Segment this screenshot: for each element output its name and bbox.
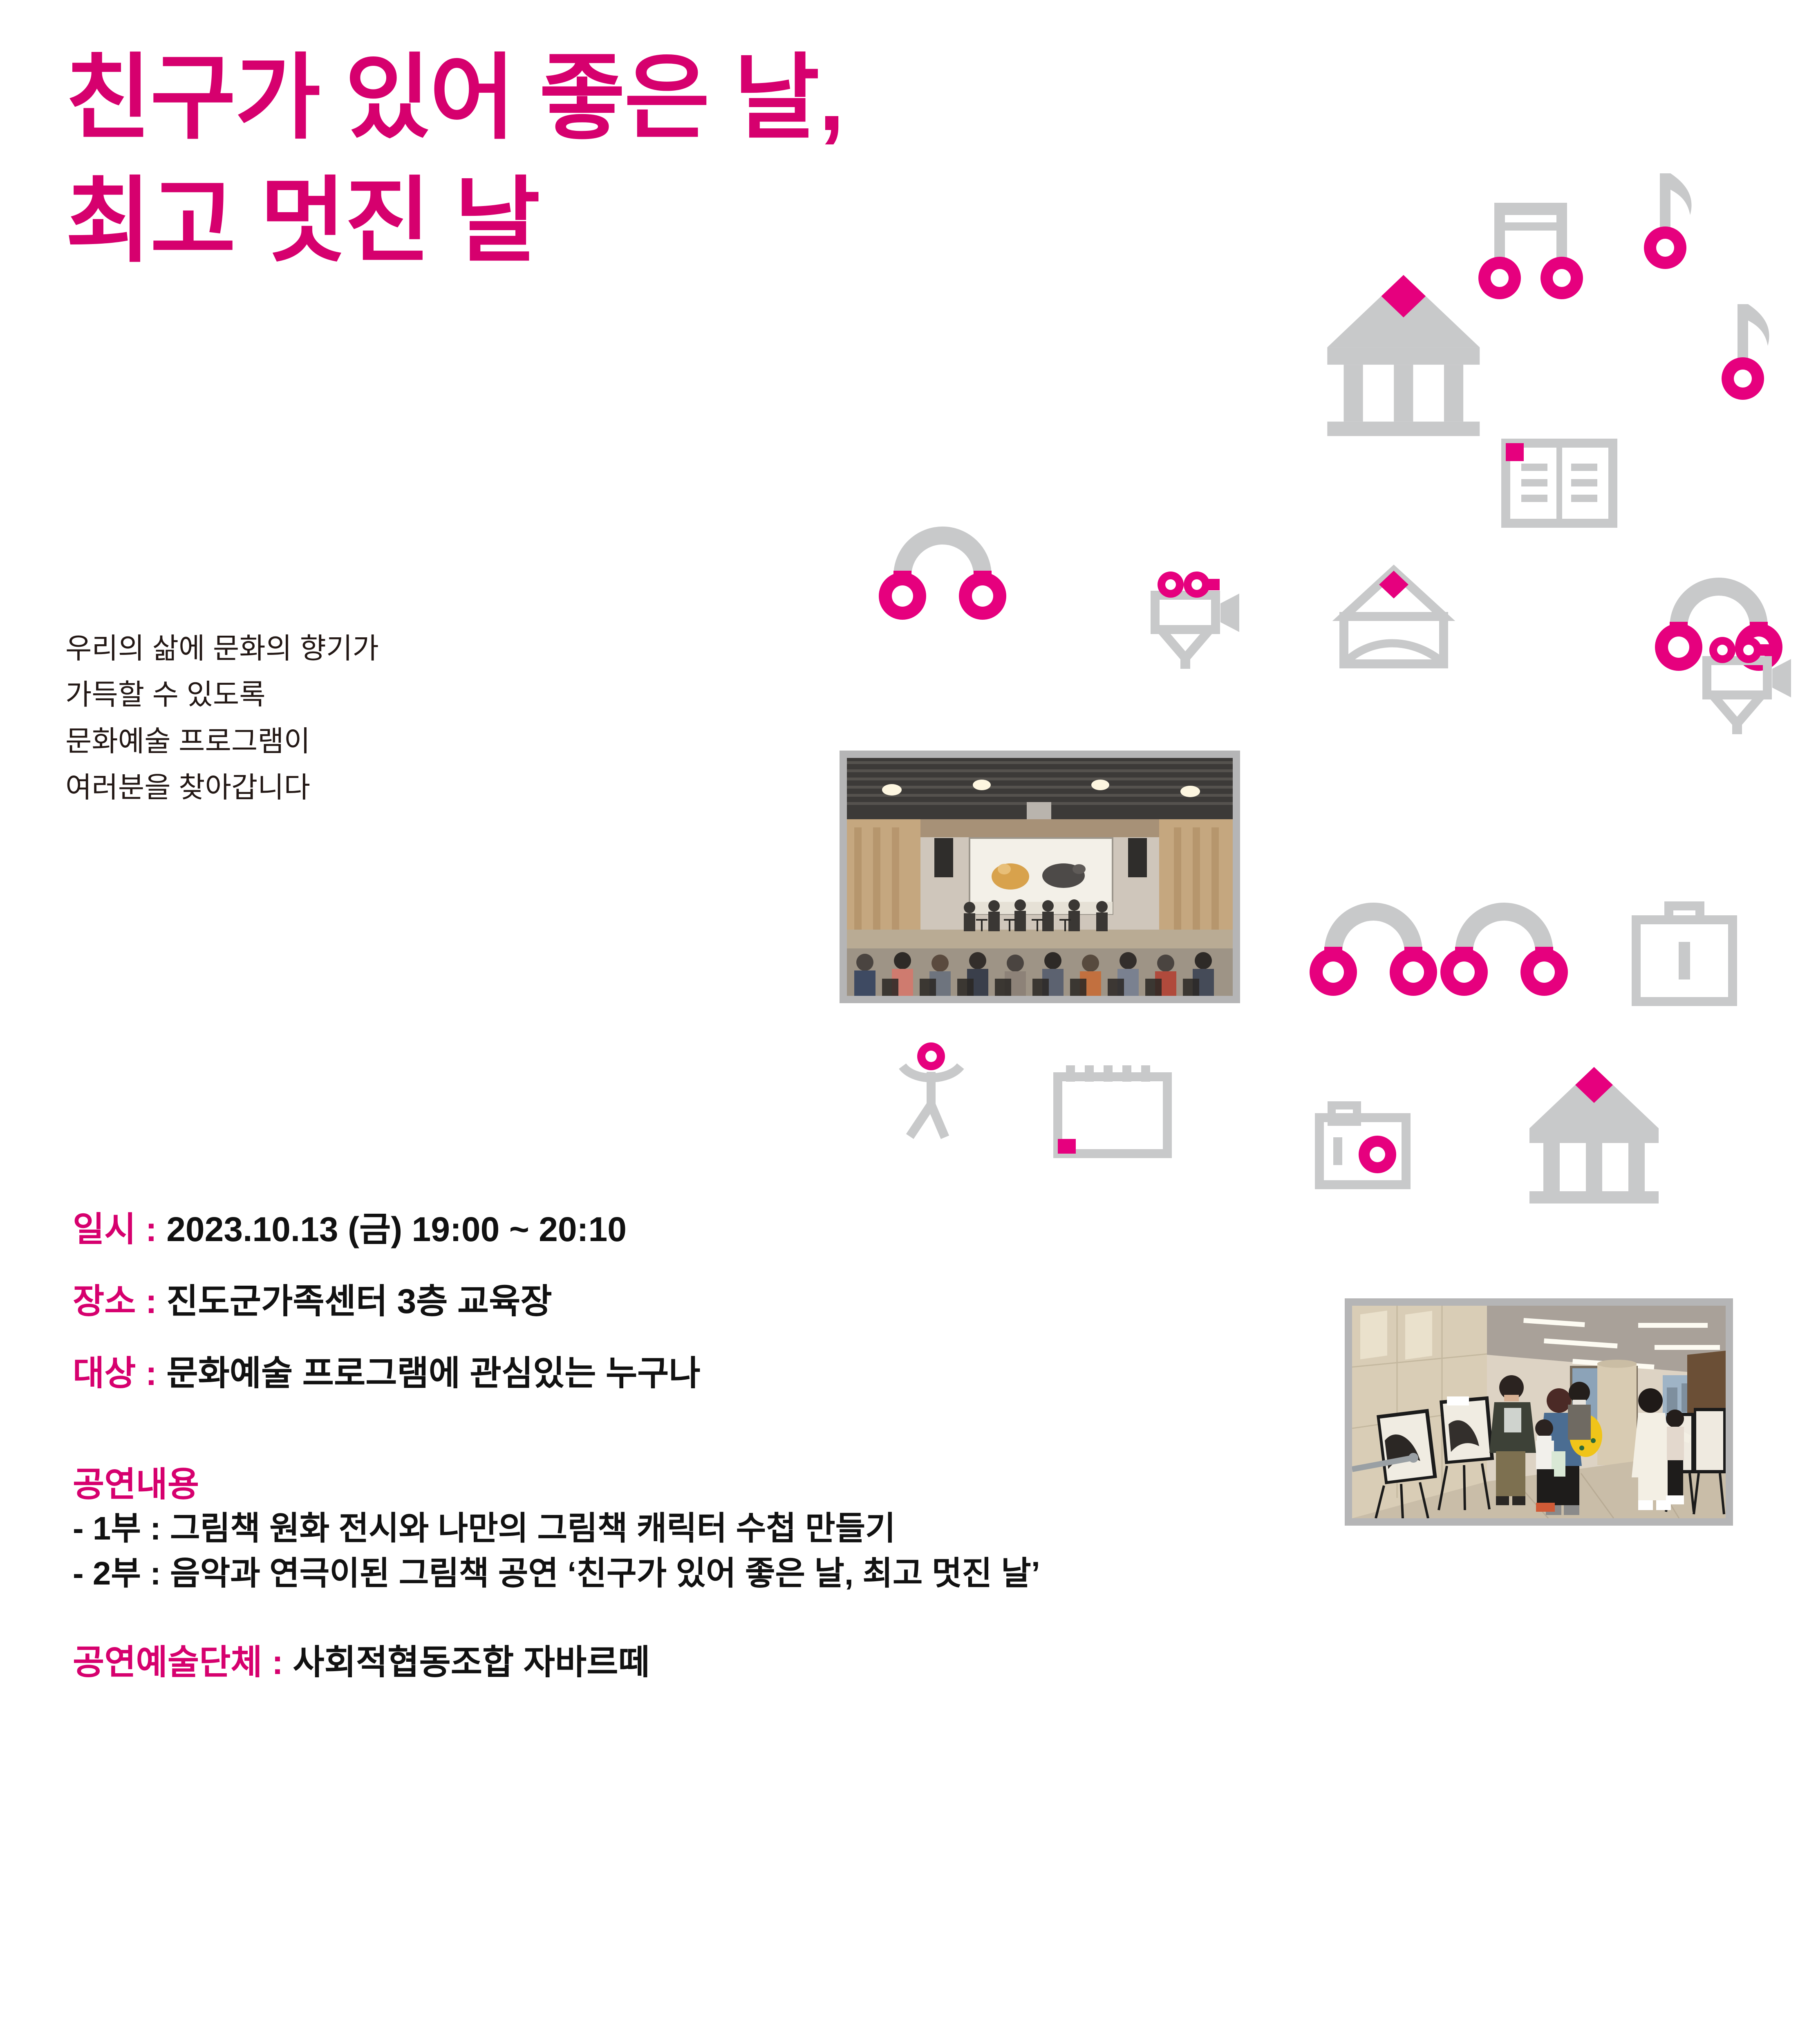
detail-row-audience: 대상 : 문화예술 프로그램에 관심있는 누구나	[73, 1352, 1040, 1394]
poster-title: 친구가 있어 좋은 날, 최고 멋진 날	[65, 37, 844, 283]
program-item-2: - 2부 : 음악과 연극이된 그림책 공연 ‘친구가 있어 좋은 날, 최고 …	[73, 1551, 1040, 1596]
event-details: 일시 : 2023.10.13 (금) 19:00 ~ 20:10 장소 : 진…	[73, 1208, 1040, 1684]
program-item-1: - 1부 : 그림책 원화 전시와 나만의 그림책 캐릭터 수첩 만들기	[73, 1506, 1040, 1551]
detail-row-place: 장소 : 진도군가족센터 3층 교육장	[73, 1280, 1040, 1322]
intro-line-4: 여러분을 찾아갑니다	[65, 764, 379, 811]
program-heading: 공연내용	[73, 1463, 1040, 1506]
troupe-value: 사회적협동조합 자바르떼	[293, 1643, 649, 1681]
decorative-icon-field	[0, 0, 1798, 2044]
place-label: 장소 :	[73, 1282, 157, 1320]
troupe-label: 공연예술단체 :	[73, 1643, 283, 1681]
date-label: 일시 :	[73, 1210, 157, 1248]
detail-row-date: 일시 : 2023.10.13 (금) 19:00 ~ 20:10	[73, 1208, 1040, 1251]
title-line-2: 최고 멋진 날	[65, 160, 844, 283]
place-value: 진도군가족센터 3층 교육장	[166, 1282, 552, 1320]
detail-row-troupe: 공연예술단체 : 사회적협동조합 자바르떼	[73, 1641, 1040, 1683]
intro-line-1: 우리의 삶에 문화의 향기가	[65, 625, 379, 672]
intro-line-2: 가득할 수 있도록	[65, 672, 379, 718]
title-line-1: 친구가 있어 좋은 날,	[65, 37, 844, 160]
date-value: 2023.10.13 (금) 19:00 ~ 20:10	[166, 1210, 627, 1248]
picture-book-exhibition-photo	[1345, 1298, 1733, 1526]
intro-line-3: 문화예술 프로그램이	[65, 718, 379, 764]
audience-value: 문화예술 프로그램에 관심있는 누구나	[166, 1354, 701, 1392]
program-section: 공연내용 - 1부 : 그림책 원화 전시와 나만의 그림책 캐릭터 수첩 만들…	[73, 1463, 1040, 1596]
intro-paragraph: 우리의 삶에 문화의 향기가 가득할 수 있도록 문화예술 프로그램이 여러분을…	[65, 625, 379, 811]
audience-label: 대상 :	[73, 1354, 157, 1392]
concert-hall-audience-photo	[840, 751, 1240, 1003]
